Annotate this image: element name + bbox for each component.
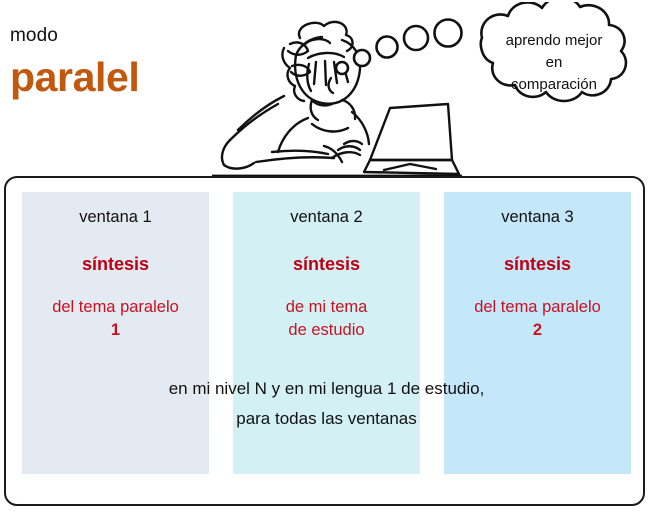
- windows-row: ventana 1 síntesis del tema paralelo 1 v…: [22, 192, 631, 474]
- window-heading-1: síntesis: [22, 254, 209, 276]
- thought-bubble: aprendo mejor en comparación: [332, 2, 657, 138]
- parallel-mode-panel: ventana 1 síntesis del tema paralelo 1 v…: [4, 176, 645, 506]
- window-description-2: de mi tema de estudio: [233, 296, 420, 340]
- window-description-3-line-2: 2: [444, 319, 631, 341]
- window-description-1-line-2: 1: [22, 319, 209, 341]
- thought-bubble-line-2: en: [474, 52, 634, 74]
- page-title-line-paralel: paralel: [10, 56, 240, 99]
- thought-bubble-line-3: comparación: [474, 74, 634, 96]
- window-label-3: ventana 3: [444, 208, 631, 228]
- window-description-3-line-1: del tema paralelo: [444, 296, 631, 318]
- page-title-line-modo: modo: [10, 26, 240, 47]
- window-label-1: ventana 1: [22, 208, 209, 228]
- window-description-2-line-1: de mi tema: [233, 296, 420, 318]
- window-description-2-line-2: de estudio: [233, 319, 420, 341]
- window-column-3[interactable]: ventana 3 síntesis del tema paralelo 2: [444, 192, 631, 474]
- window-column-2[interactable]: ventana 2 síntesis de mi tema de estudio: [233, 192, 420, 474]
- window-column-1[interactable]: ventana 1 síntesis del tema paralelo 1: [22, 192, 209, 474]
- thought-bubble-line-1: aprendo mejor: [474, 30, 634, 52]
- window-heading-3: síntesis: [444, 254, 631, 276]
- window-description-1-line-1: del tema paralelo: [22, 296, 209, 318]
- window-heading-2: síntesis: [233, 254, 420, 276]
- window-label-2: ventana 2: [233, 208, 420, 228]
- page-title-block: modo paralel: [10, 26, 240, 99]
- window-description-1: del tema paralelo 1: [22, 296, 209, 340]
- thought-bubble-text: aprendo mejor en comparación: [474, 30, 634, 95]
- window-description-3: del tema paralelo 2: [444, 296, 631, 340]
